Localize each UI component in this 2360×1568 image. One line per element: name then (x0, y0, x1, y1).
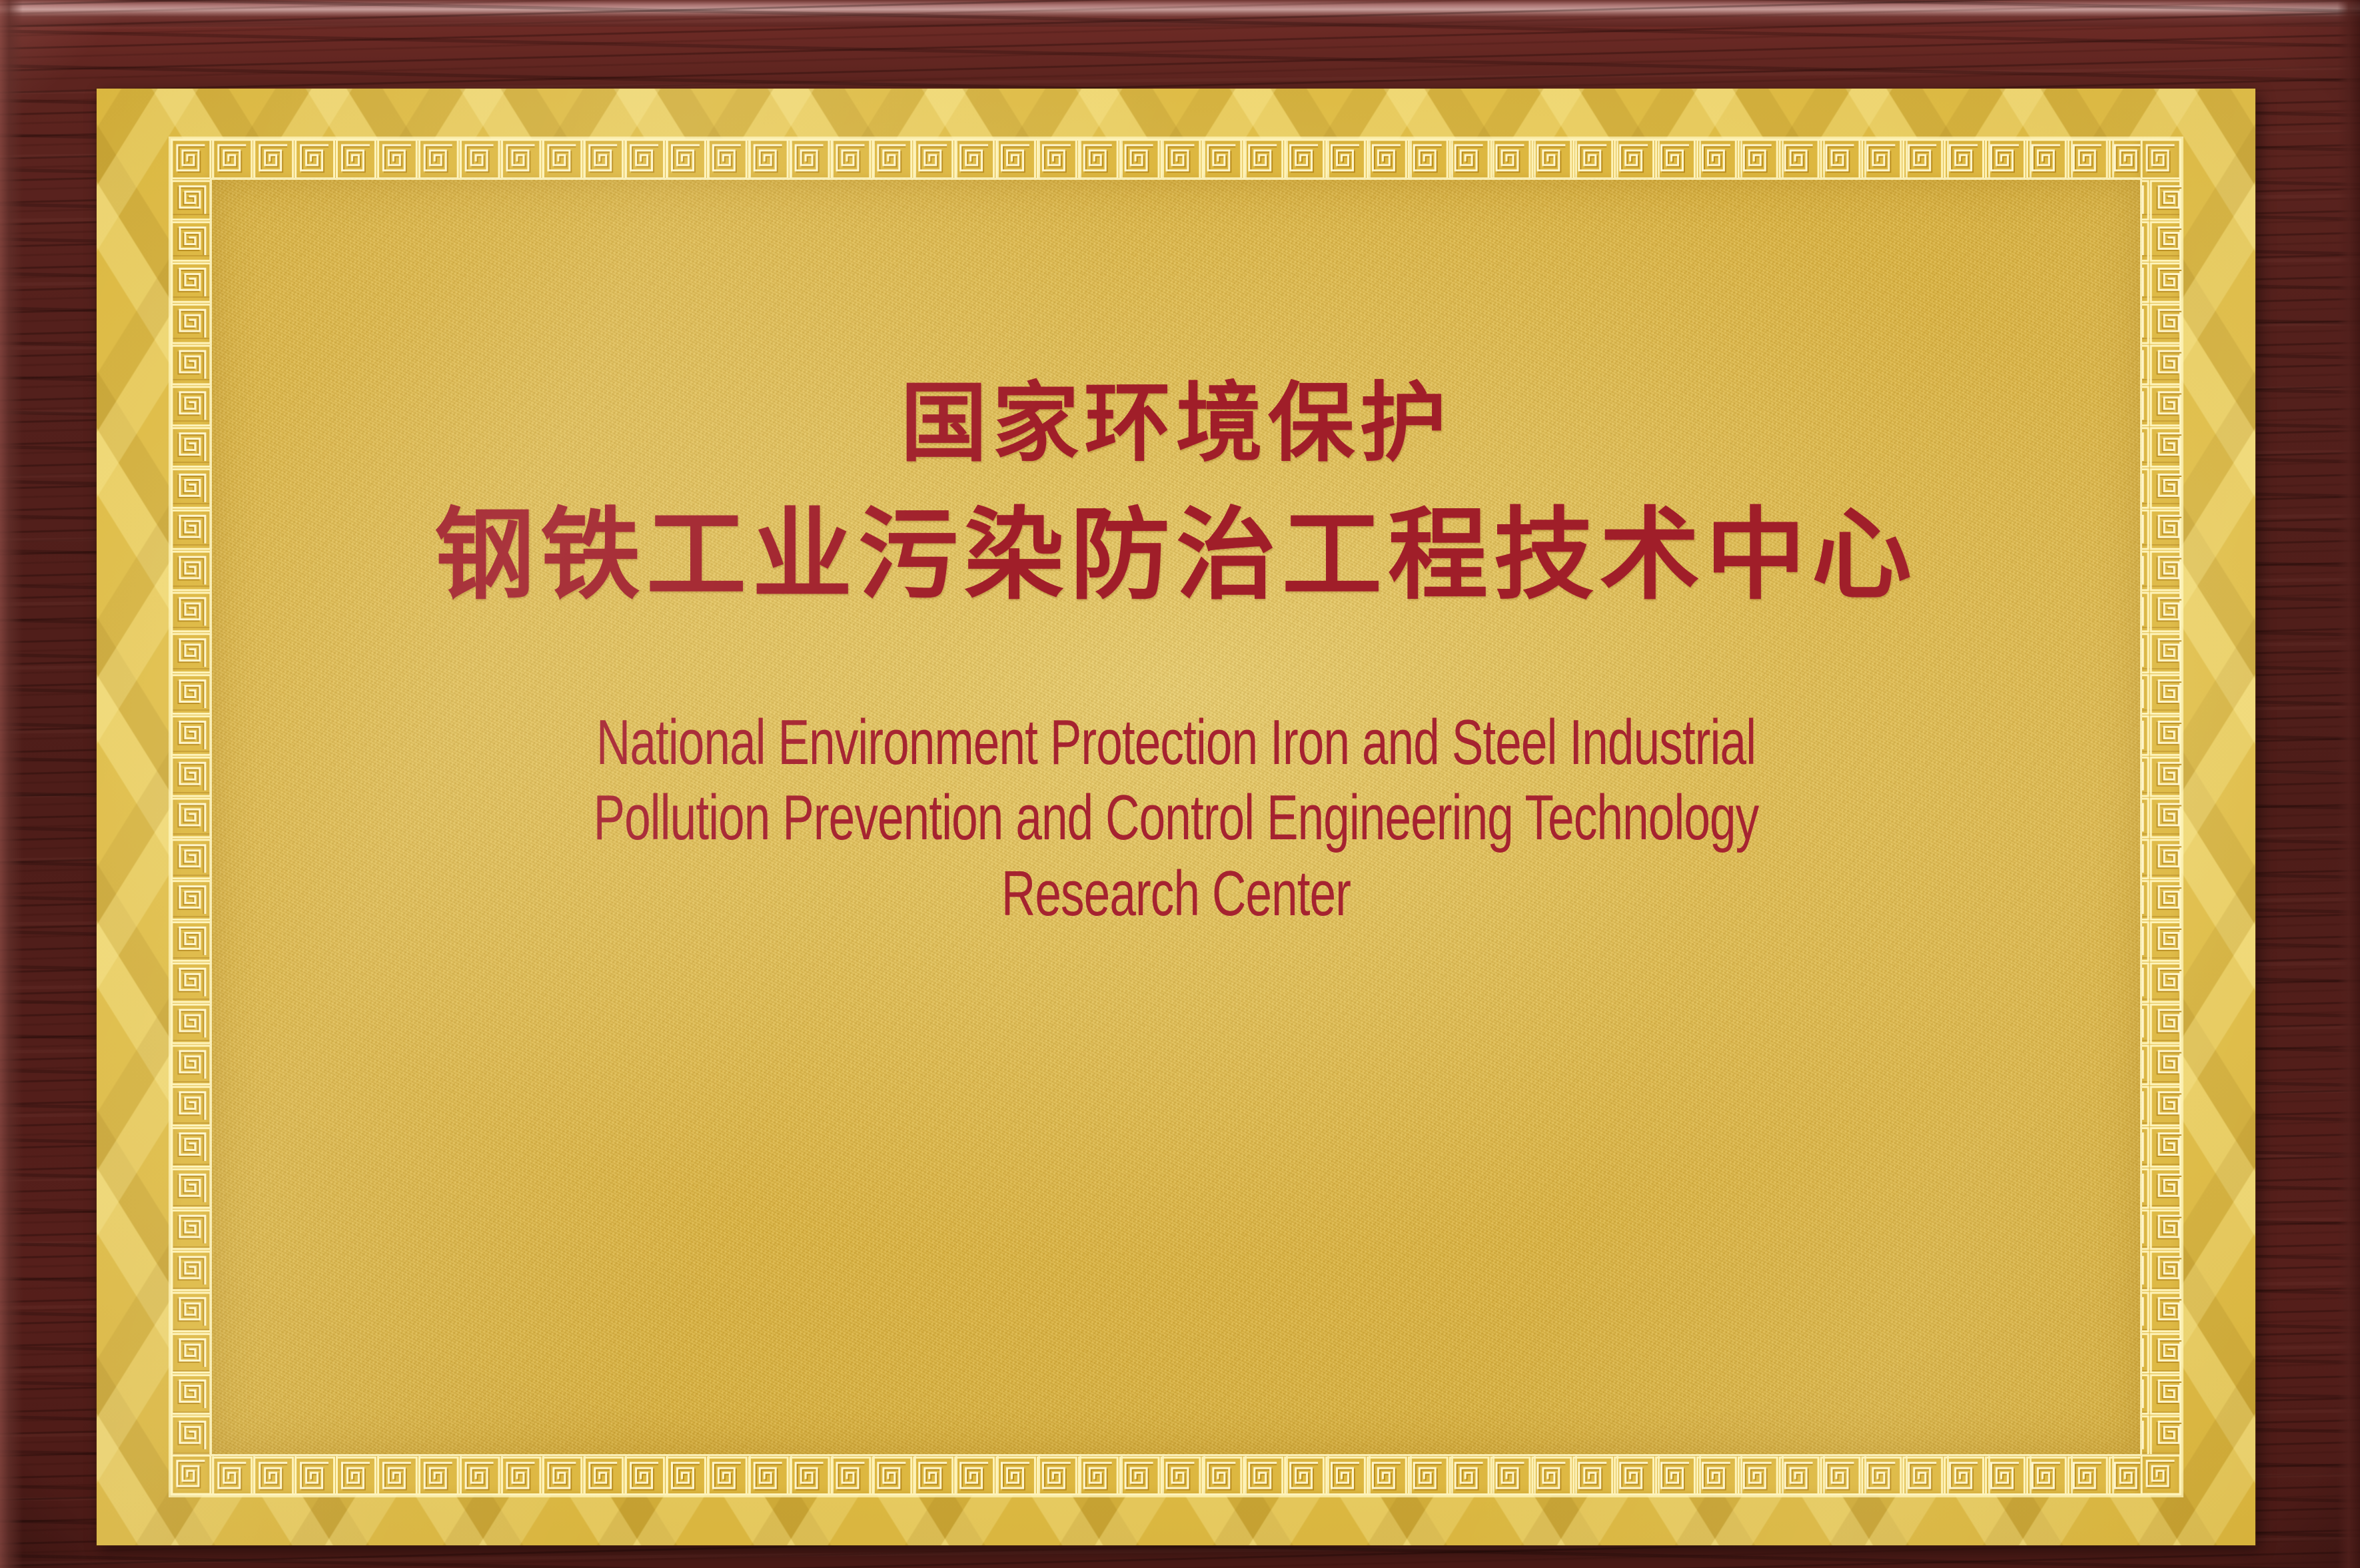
greek-key-corner-top-left (171, 139, 212, 180)
frame-right-bevel (2337, 0, 2360, 1568)
chinese-title-line-2: 钢铁工业污染防治工程技术中心 (212, 505, 2140, 605)
greek-key-corner-bottom-left (171, 1454, 212, 1495)
greek-key-strip-right (2140, 180, 2181, 1454)
greek-key-strip-bottom (212, 1454, 2140, 1495)
inscription-panel: 国家环境保护 钢铁工业污染防治工程技术中心 National Environme… (210, 178, 2142, 1456)
greek-key-corner-top-right (2140, 139, 2181, 180)
english-subtitle-line-1: National Environment Protection Iron and… (462, 705, 1890, 780)
award-plaque: 国家环境保护 钢铁工业污染防治工程技术中心 National Environme… (0, 0, 2360, 1568)
english-subtitle-block: National Environment Protection Iron and… (462, 705, 1890, 931)
frame-left-bevel (0, 0, 23, 1568)
greek-key-strip-top (212, 139, 2140, 180)
inscription-text-block: 国家环境保护 钢铁工业污染防治工程技术中心 National Environme… (212, 380, 2140, 931)
chinese-title-line-1: 国家环境保护 (212, 380, 2140, 466)
frame-top-shadow-lip (0, 17, 2360, 27)
gold-plate: 国家环境保护 钢铁工业污染防治工程技术中心 National Environme… (97, 89, 2255, 1545)
greek-key-strip-left (171, 180, 212, 1454)
greek-key-corner-bottom-right (2140, 1454, 2181, 1495)
english-subtitle-line-2: Pollution Prevention and Control Enginee… (462, 780, 1890, 855)
english-subtitle-line-3: Research Center (462, 856, 1890, 931)
frame-top-highlight-lip (0, 0, 2360, 17)
